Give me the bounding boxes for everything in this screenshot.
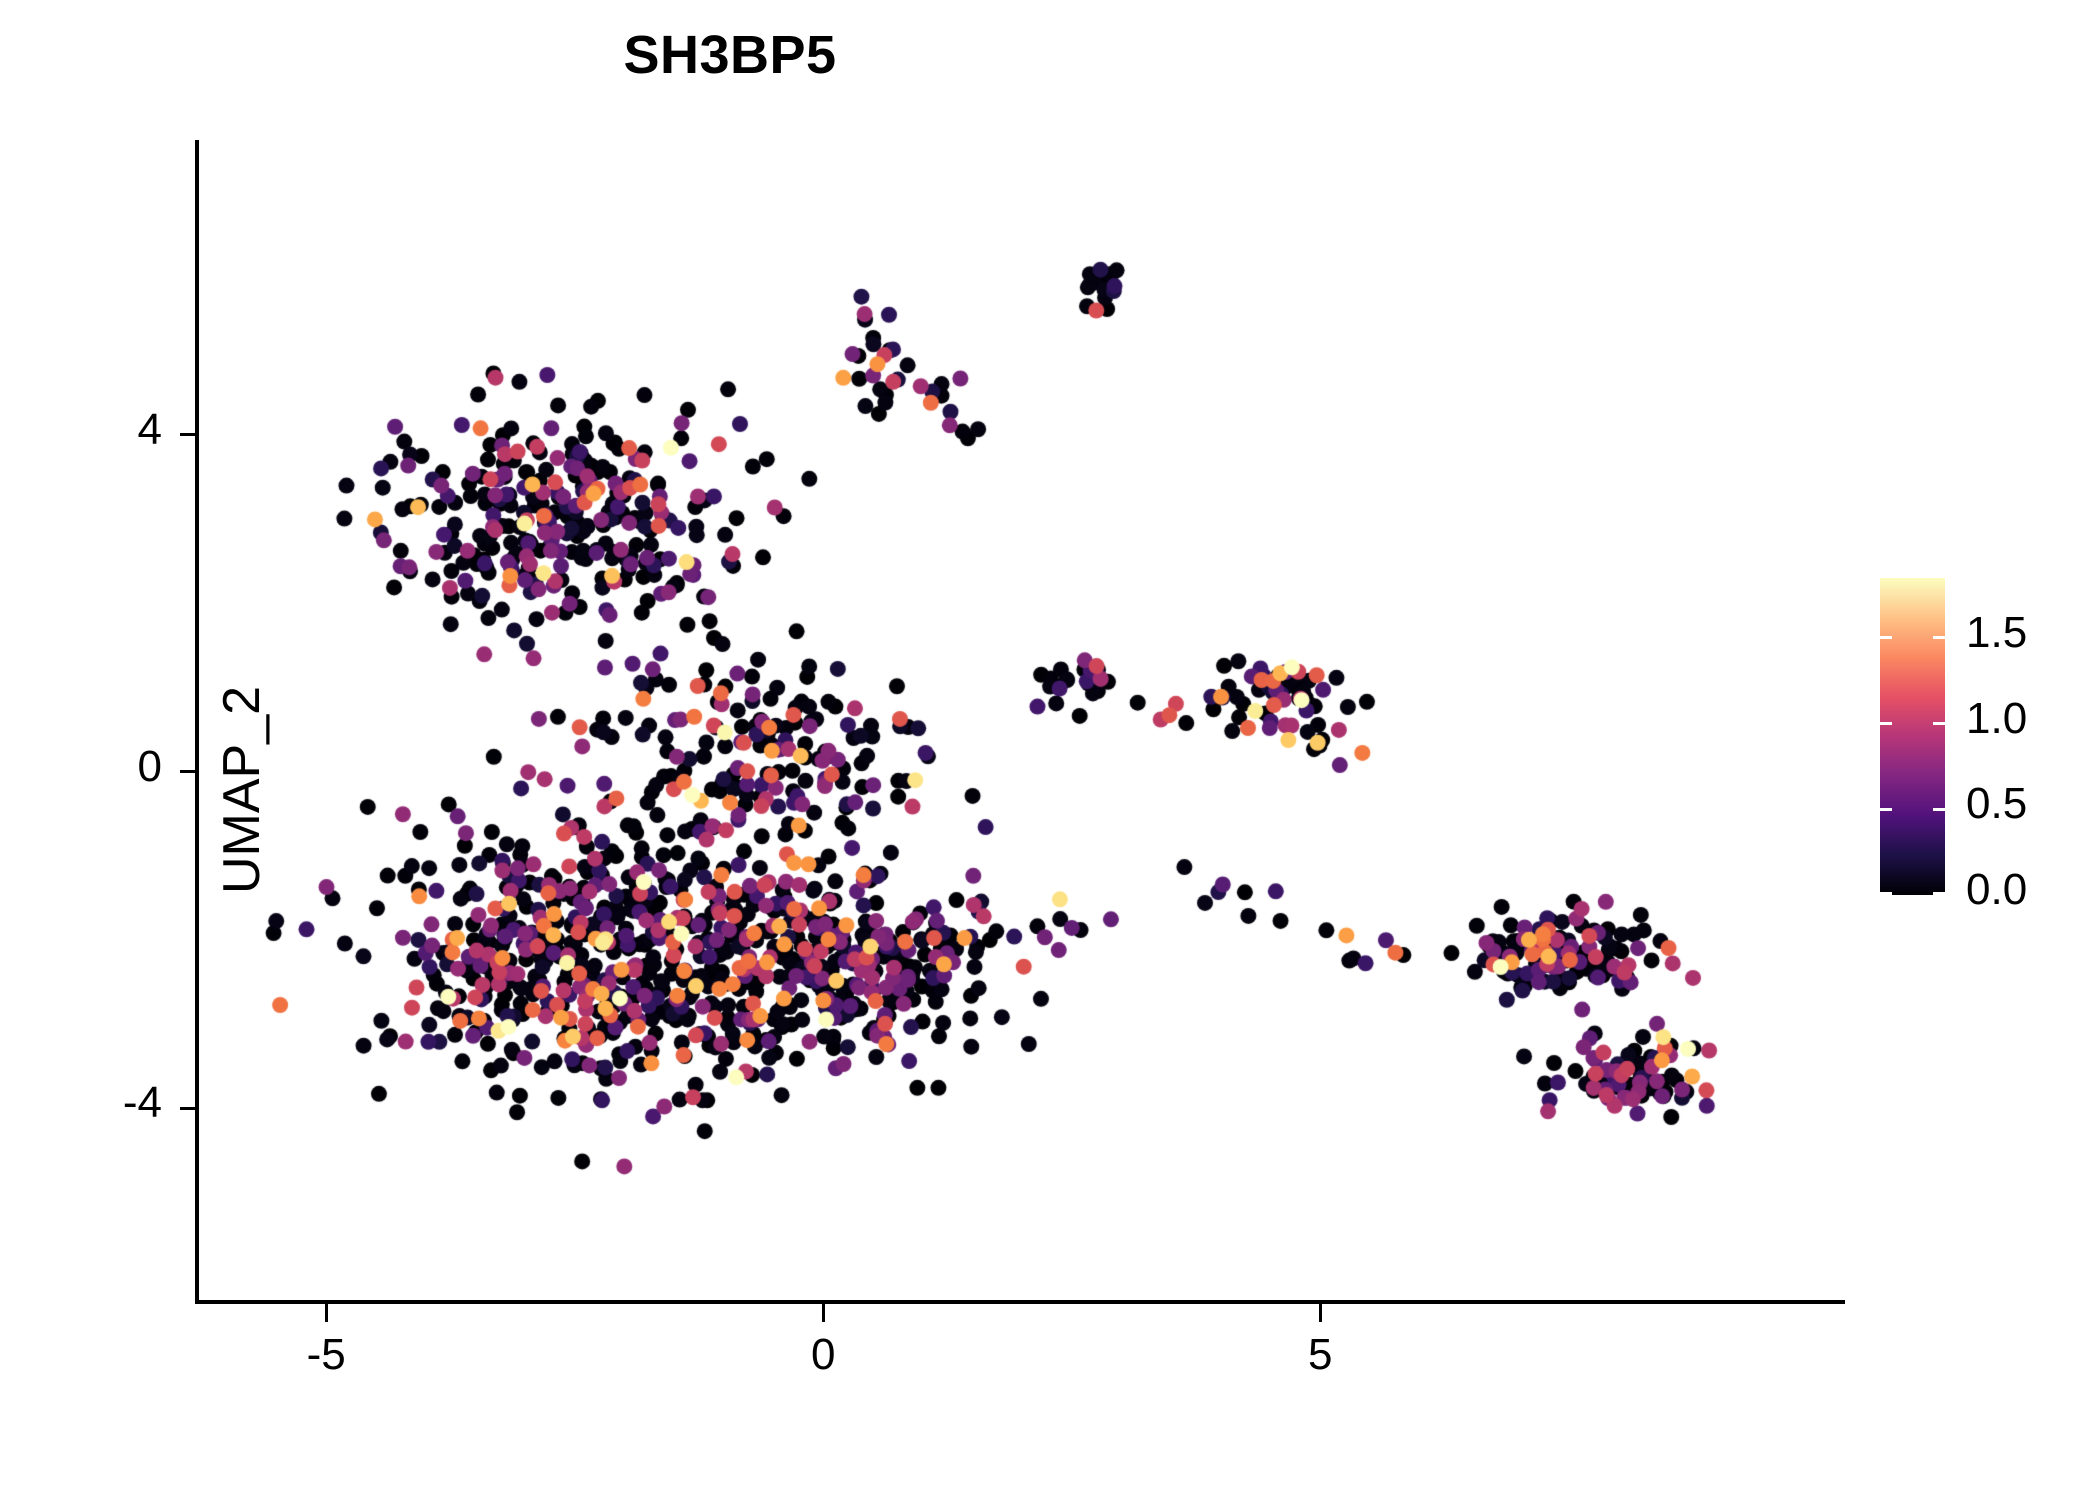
colorbar-tick-label: 0.5: [1966, 779, 2027, 829]
colorbar-tick-mark: [1880, 892, 1892, 895]
y-axis-label: UMAP_2: [212, 530, 272, 1050]
colorbar-tick-label: 0.0: [1966, 865, 2027, 915]
colorbar-tick-mark: [1933, 722, 1945, 725]
umap-feature-plot: SH3BP5 UMAP_2 UMAP_1 -404 -505 0.00.51.0…: [0, 0, 2100, 1500]
colorbar-gradient: [1880, 578, 1945, 895]
y-tick-label: 4: [42, 405, 162, 455]
y-tick-label: 0: [42, 742, 162, 792]
colorbar-tick-mark: [1933, 808, 1945, 811]
x-tick-mark: [822, 1304, 825, 1322]
colorbar-tick-mark: [1933, 636, 1945, 639]
plot-panel: UMAP_2 UMAP_1: [197, 140, 1847, 1302]
colorbar-tick-mark: [1880, 808, 1892, 811]
scatter-plot-canvas: [197, 140, 1847, 1302]
x-tick-mark: [1319, 1304, 1322, 1322]
x-tick-label: 5: [1250, 1330, 1390, 1380]
page-title: SH3BP5: [0, 24, 1460, 86]
x-tick-mark: [325, 1304, 328, 1322]
x-tick-label: 0: [753, 1330, 893, 1380]
y-tick-mark: [180, 1107, 196, 1110]
colorbar-tick-label: 1.5: [1966, 608, 2027, 658]
colorbar-legend: 0.00.51.01.5: [1880, 578, 2080, 908]
x-axis-line: [195, 1300, 1845, 1304]
colorbar-tick-mark: [1880, 636, 1892, 639]
x-tick-label: -5: [256, 1330, 396, 1380]
y-tick-mark: [180, 770, 196, 773]
colorbar-tick-label: 1.0: [1966, 694, 2027, 744]
colorbar-tick-mark: [1880, 722, 1892, 725]
y-tick-label: -4: [42, 1078, 162, 1128]
y-tick-mark: [180, 433, 196, 436]
colorbar-tick-mark: [1933, 892, 1945, 895]
y-axis-line: [195, 140, 199, 1304]
